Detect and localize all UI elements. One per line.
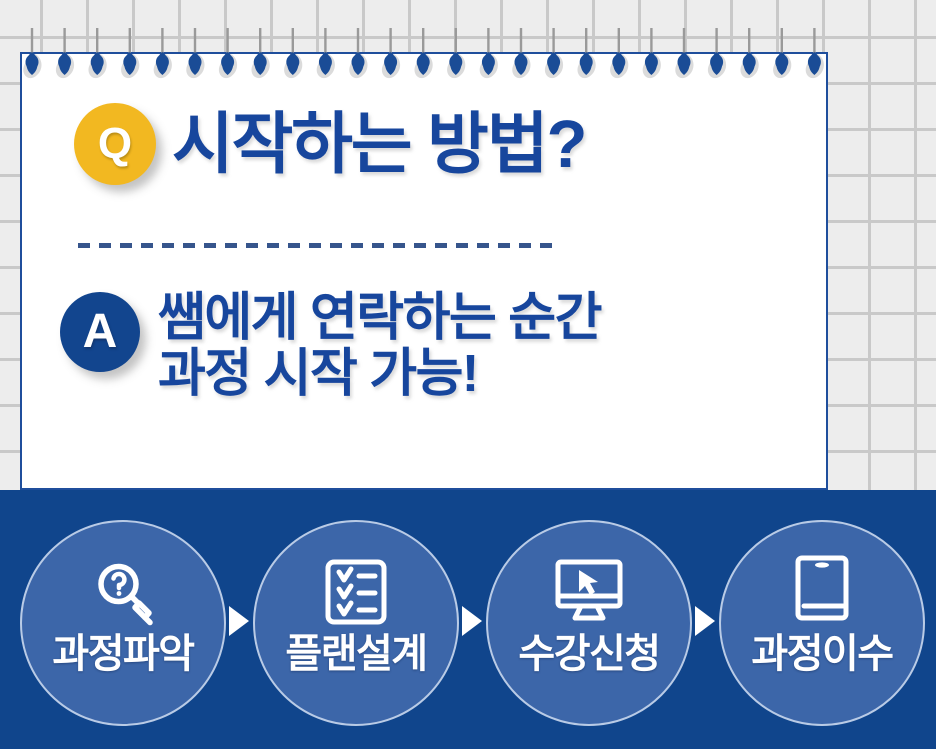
answer-text: 쌤에게 연락하는 순간 과정 시작 가능!	[158, 290, 601, 402]
answer-line-2: 과정 시작 가능!	[158, 346, 601, 402]
process-step-3-label: 수강신청	[518, 634, 659, 674]
process-steps: 과정파악 플랜설계	[0, 490, 936, 749]
answer-row: A 쌤에게 연락하는 순간 과정 시작 가능!	[60, 290, 601, 402]
answer-badge-letter: A	[83, 308, 118, 356]
question-row: Q 시작하는 방법?	[74, 103, 585, 185]
answer-badge-wrapper: A	[60, 290, 140, 372]
process-step-3[interactable]: 수강신청	[486, 520, 692, 726]
poster-canvas: Q 시작하는 방법? A 쌤에게 연락하는 순간 과정 시작 가능!	[0, 0, 936, 749]
process-step-2[interactable]: 플랜설계	[253, 520, 459, 726]
question-text: 시작하는 방법?	[172, 111, 585, 178]
question-badge: Q	[74, 103, 156, 185]
process-arrow-2	[461, 606, 483, 636]
process-step-1-label: 과정파악	[52, 634, 193, 674]
process-step-1[interactable]: 과정파악	[20, 520, 226, 726]
process-arrow-3	[694, 606, 716, 636]
process-band: 과정파악 플랜설계	[0, 490, 936, 749]
process-step-4[interactable]: 과정이수	[719, 520, 925, 726]
answer-line-1: 쌤에게 연락하는 순간	[158, 290, 601, 346]
answer-badge: A	[60, 292, 140, 372]
clipboard-checklist-icon	[310, 544, 402, 632]
question-badge-letter: Q	[98, 122, 132, 166]
process-step-2-label: 플랜설계	[285, 634, 426, 674]
process-step-4-label: 과정이수	[751, 634, 892, 674]
process-arrow-1	[228, 606, 250, 636]
tablet-certificate-icon	[776, 544, 868, 632]
dashed-divider	[78, 243, 554, 248]
monitor-cursor-icon	[543, 544, 635, 632]
magnifier-question-icon	[77, 544, 169, 632]
